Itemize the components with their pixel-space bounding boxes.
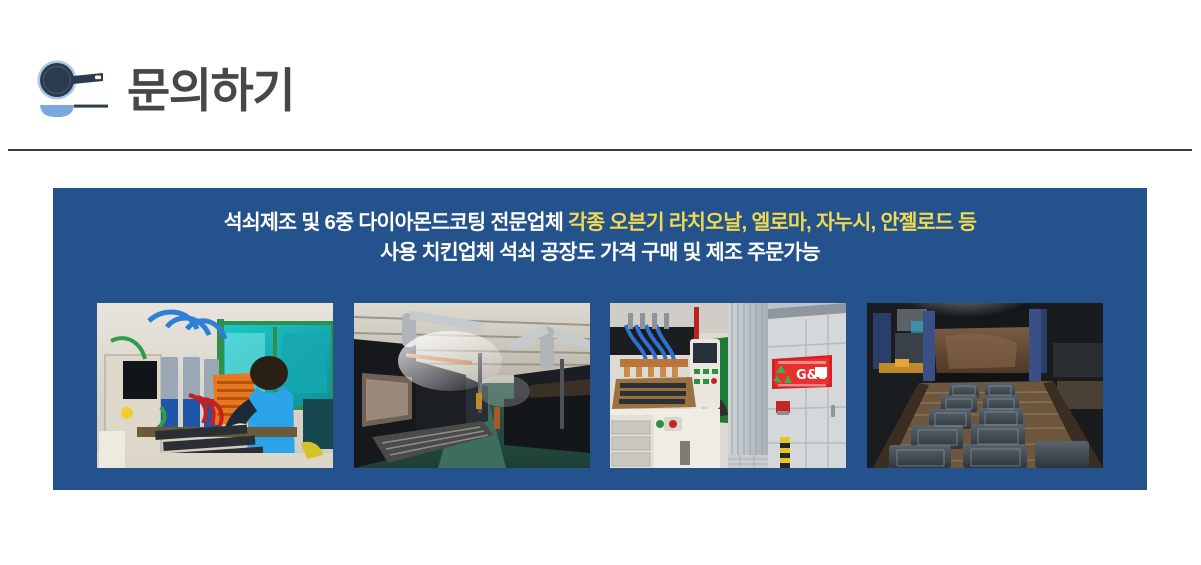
banner-line-1-plain: 석쇠제조 및 6중 다이아몬드코팅 전문업체	[224, 211, 568, 234]
page-header: 문의하기	[0, 42, 1201, 138]
page-title: 문의하기	[127, 67, 294, 114]
frying-pan-icon	[33, 59, 115, 121]
promo-banner: 석쇠제조 및 6중 다이아몬드코팅 전문업체 각종 오븐기 라치오날, 엘로마,…	[53, 188, 1147, 490]
photo-trays-conveyor-oven	[867, 303, 1103, 468]
banner-line-1-highlight: 각종 오븐기 라치오날, 엘로마, 자누시, 안젤로드 등	[568, 211, 976, 234]
banner-photo-strip: G&S	[97, 303, 1103, 468]
banner-line-1: 석쇠제조 및 6중 다이아몬드코팅 전문업체 각종 오븐기 라치오날, 엘로마,…	[53, 208, 1147, 238]
photo-welding-machine-worker	[97, 303, 333, 468]
photo-coating-machine-gns-tech: G&S	[610, 303, 846, 468]
header-divider	[8, 149, 1192, 151]
banner-text-block: 석쇠제조 및 6중 다이아몬드코팅 전문업체 각종 오븐기 라치오날, 엘로마,…	[53, 188, 1147, 267]
photo-factory-furnace-line	[354, 303, 590, 468]
page-root: 문의하기 석쇠제조 및 6중 다이아몬드코팅 전문업체 각종 오븐기 라치오날,…	[0, 0, 1201, 565]
banner-line-2: 사용 치킨업체 석쇠 공장도 가격 구매 및 제조 주문가능	[53, 238, 1147, 268]
